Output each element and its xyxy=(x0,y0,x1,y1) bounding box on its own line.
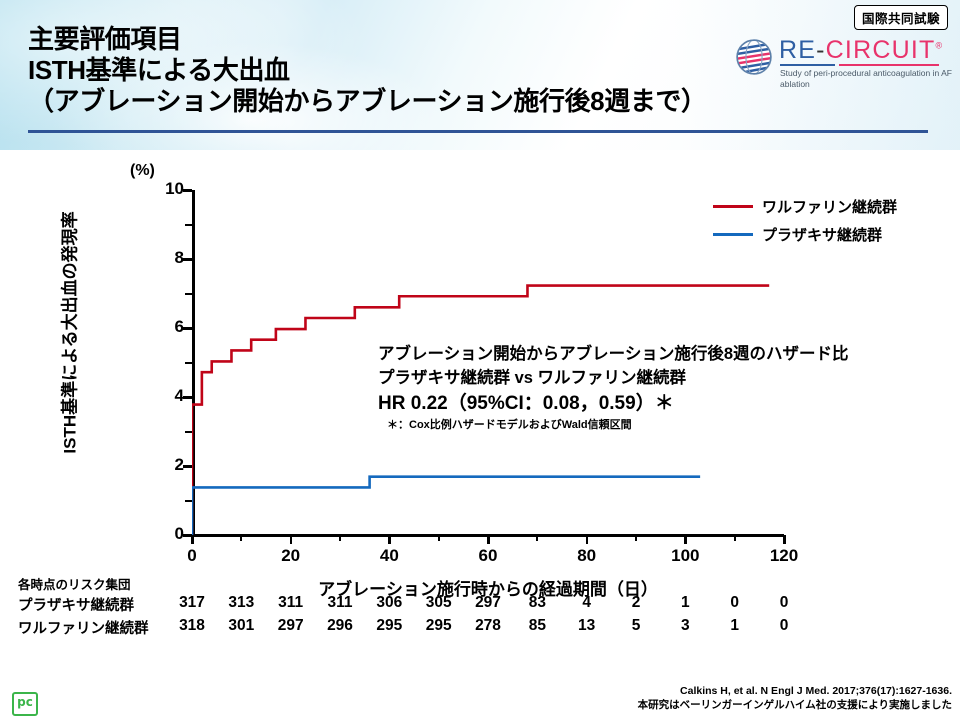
risk-value: 295 xyxy=(366,617,412,635)
y-tick-label: 10 xyxy=(124,179,184,199)
citation-line-1: Calkins H, et al. N Engl J Med. 2017;376… xyxy=(638,684,952,698)
risk-table-caption: 各時点のリスク集団 xyxy=(18,574,131,593)
risk-value: 85 xyxy=(514,617,560,635)
y-tick-minor xyxy=(185,362,192,364)
risk-value: 13 xyxy=(564,617,610,635)
y-tick-minor xyxy=(185,500,192,502)
risk-value: 296 xyxy=(317,617,363,635)
y-tick-minor xyxy=(185,431,192,433)
y-tick-minor xyxy=(185,293,192,295)
slide-title-line-3: （アブレーション開始からアブレーション施行後8週まで） xyxy=(28,86,728,117)
logo-underline-pink xyxy=(839,64,939,66)
hazard-ratio-annotation: アブレーション開始からアブレーション施行後8週のハザード比 プラザキサ継続群 v… xyxy=(378,342,849,433)
legend-swatch-warfarin xyxy=(713,205,753,208)
annotation-line-1: アブレーション開始からアブレーション施行後8週のハザード比 xyxy=(378,342,849,366)
km-curve-pradaxa xyxy=(192,477,700,535)
chart-legend: ワルファリン継続群 プラザキサ継続群 xyxy=(713,192,897,248)
risk-value: 297 xyxy=(465,594,511,612)
legend-label-pradaxa: プラザキサ継続群 xyxy=(762,224,882,245)
slide-title: 主要評価項目 ISTH基準による大出血 （アブレーション開始からアブレーション施… xyxy=(28,24,728,117)
logo-word-dash: - xyxy=(816,36,826,64)
risk-value: 311 xyxy=(268,594,314,612)
logo-globe-icon xyxy=(735,38,773,76)
risk-value: 305 xyxy=(416,594,462,612)
risk-value: 297 xyxy=(268,617,314,635)
risk-value: 317 xyxy=(169,594,215,612)
numbers-at-risk-table: 各時点のリスク集団 プラザキサ継続群 ワルファリン継続群 31731331131… xyxy=(0,572,960,642)
risk-value: 1 xyxy=(712,617,758,635)
x-tick-label: 20 xyxy=(256,546,326,566)
slide-title-line-1: 主要評価項目 xyxy=(28,24,728,55)
re-circuit-logo: RE-CIRCUIT® Study of peri-procedural ant… xyxy=(735,36,950,98)
risk-value: 313 xyxy=(218,594,264,612)
y-tick-label: 6 xyxy=(124,317,184,337)
logo-word-re: RE xyxy=(779,36,816,64)
citation-line-2: 本研究はベーリンガーインゲルハイム社の支援により実施しました xyxy=(638,698,952,712)
logo-subtitle: Study of peri-procedural anticoagulation… xyxy=(780,68,955,90)
legend-item-pradaxa: プラザキサ継続群 xyxy=(713,220,897,248)
logo-wordmark: RE-CIRCUIT® xyxy=(779,36,943,65)
logo-underline-blue xyxy=(780,64,835,66)
citation-block: Calkins H, et al. N Engl J Med. 2017;376… xyxy=(638,684,952,712)
x-tick-label: 80 xyxy=(552,546,622,566)
annotation-hazard-ratio: HR 0.22（95%CI：0.08，0.59）＊ xyxy=(378,390,849,417)
risk-value: 295 xyxy=(416,617,462,635)
risk-value: 4 xyxy=(564,594,610,612)
y-tick-major xyxy=(183,396,192,399)
logo-word-circuit: CIRCUIT xyxy=(826,36,936,64)
annotation-line-2: プラザキサ継続群 vs ワルファリン継続群 xyxy=(378,366,849,390)
title-divider xyxy=(28,130,928,133)
y-tick-minor xyxy=(185,224,192,226)
risk-value: 306 xyxy=(366,594,412,612)
x-tick-label: 40 xyxy=(354,546,424,566)
x-tick-label: 120 xyxy=(749,546,819,566)
risk-value: 5 xyxy=(613,617,659,635)
x-tick-label: 100 xyxy=(650,546,720,566)
risk-value: 0 xyxy=(761,617,807,635)
risk-value: 301 xyxy=(218,617,264,635)
risk-value: 2 xyxy=(613,594,659,612)
risk-value: 318 xyxy=(169,617,215,635)
y-axis-title: ISTH基準による大出血の発現率 xyxy=(56,203,81,463)
risk-row-label-pradaxa: プラザキサ継続群 xyxy=(18,594,134,615)
y-tick-label: 0 xyxy=(124,524,184,544)
risk-value: 83 xyxy=(514,594,560,612)
risk-value: 3 xyxy=(662,617,708,635)
y-axis-unit-label: (%) xyxy=(130,162,155,180)
slide-title-line-2: ISTH基準による大出血 xyxy=(28,55,728,86)
slide-footer: pc Calkins H, et al. N Engl J Med. 2017;… xyxy=(0,684,960,720)
y-tick-major xyxy=(183,465,192,468)
legend-item-warfarin: ワルファリン継続群 xyxy=(713,192,897,220)
logo-registered-mark: ® xyxy=(935,41,943,51)
x-tick-label: 60 xyxy=(453,546,523,566)
risk-value: 1 xyxy=(662,594,708,612)
risk-value: 0 xyxy=(712,594,758,612)
legend-swatch-pradaxa xyxy=(713,233,753,236)
y-tick-major xyxy=(183,189,192,192)
pc-logo-icon: pc xyxy=(12,692,38,716)
x-tick-label: 0 xyxy=(157,546,227,566)
y-tick-major xyxy=(183,327,192,330)
risk-row-label-warfarin: ワルファリン継続群 xyxy=(18,617,149,638)
risk-value: 0 xyxy=(761,594,807,612)
legend-label-warfarin: ワルファリン継続群 xyxy=(762,196,897,217)
study-type-badge: 国際共同試験 xyxy=(854,5,948,30)
risk-value: 311 xyxy=(317,594,363,612)
annotation-footnote: ＊：Cox比例ハザードモデルおよびWald信頼区間 xyxy=(387,417,849,433)
y-tick-label: 2 xyxy=(124,455,184,475)
y-tick-label: 4 xyxy=(124,386,184,406)
risk-value: 278 xyxy=(465,617,511,635)
y-tick-major xyxy=(183,258,192,261)
y-tick-label: 8 xyxy=(124,248,184,268)
km-chart: (%) ISTH基準による大出血の発現率 0246810 02040608010… xyxy=(0,150,960,570)
